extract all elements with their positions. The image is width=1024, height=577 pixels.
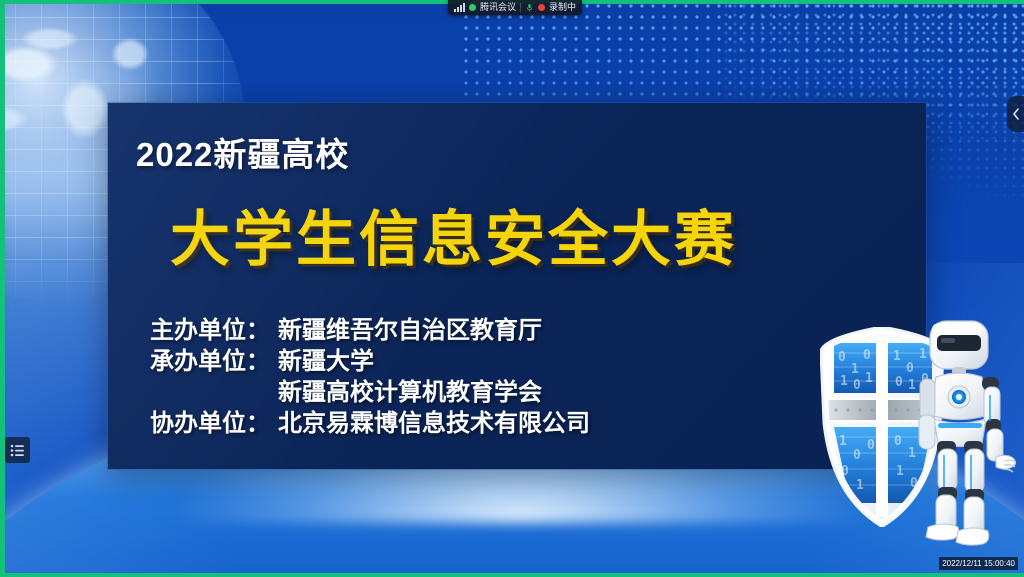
svg-text:0: 0	[867, 438, 875, 453]
organizer-row-undertaker-second: 承办单位： 新疆高校计算机教育学会	[150, 377, 590, 408]
organizer-row-undertaker: 承办单位： 新疆大学	[150, 346, 590, 377]
list-menu-icon	[10, 444, 25, 457]
svg-text:0: 0	[853, 448, 861, 463]
svg-text:1: 1	[851, 362, 859, 377]
tencent-meeting-status-pill[interactable]: 腾讯会议 录制中	[448, 0, 582, 15]
slide-kicker: 2022新疆高校	[136, 128, 349, 176]
organizer-row-host: 主办单位： 新疆维吾尔自治区教育厅	[150, 315, 590, 346]
chevron-left-icon	[1012, 108, 1020, 120]
screen-share-stage: 2022新疆高校 大学生信息安全大赛 主办单位： 新疆维吾尔自治区教育厅 承办单…	[0, 0, 1024, 577]
meeting-app-name: 腾讯会议	[480, 3, 516, 12]
svg-text:0: 0	[894, 434, 902, 449]
microphone-icon[interactable]	[525, 3, 534, 12]
svg-text:0: 0	[853, 378, 861, 393]
svg-text:0: 0	[838, 350, 846, 365]
signal-bars-icon	[454, 3, 465, 12]
organizer-label-undertaker: 承办单位：	[150, 346, 278, 377]
svg-text:0: 0	[895, 375, 903, 390]
slide-main-title: 大学生信息安全大赛	[170, 191, 737, 278]
organizer-value-undertaker: 新疆大学	[278, 346, 374, 377]
svg-text:1: 1	[893, 349, 901, 364]
organizer-block: 主办单位： 新疆维吾尔自治区教育厅 承办单位： 新疆大学 承办单位： 新疆高校计…	[150, 315, 590, 439]
pill-divider	[520, 3, 521, 12]
mascot-group: 010 101 101 010 100 10 011 00	[820, 315, 1020, 550]
recording-status-label: 录制中	[549, 3, 576, 12]
side-list-button[interactable]	[5, 437, 30, 463]
organizer-label-host: 主办单位：	[150, 315, 278, 346]
organizer-label-coorganizer: 协办单位：	[150, 408, 278, 439]
robot-mascot-icon	[908, 315, 1020, 550]
svg-text:1: 1	[839, 434, 847, 449]
red-recording-dot-icon	[538, 4, 545, 11]
collapse-panel-button[interactable]	[1007, 96, 1024, 132]
svg-text:1: 1	[865, 371, 873, 386]
organizer-value-undertaker-second: 新疆高校计算机教育学会	[278, 377, 542, 408]
svg-text:0: 0	[863, 348, 871, 363]
title-panel: 2022新疆高校 大学生信息安全大赛 主办单位： 新疆维吾尔自治区教育厅 承办单…	[108, 103, 926, 469]
shared-slide: 2022新疆高校 大学生信息安全大赛 主办单位： 新疆维吾尔自治区教育厅 承办单…	[5, 4, 1024, 573]
svg-text:1: 1	[896, 464, 904, 479]
organizer-row-coorganizer: 协办单位： 北京易霖博信息技术有限公司	[150, 408, 590, 439]
timestamp-overlay: 2022/12/11 15:00:40	[939, 557, 1018, 570]
green-status-dot-icon	[469, 4, 476, 11]
screen-share-border-bottom	[0, 573, 1024, 577]
organizer-value-coorganizer: 北京易霖博信息技术有限公司	[278, 408, 590, 439]
organizer-value-host: 新疆维吾尔自治区教育厅	[278, 315, 542, 346]
